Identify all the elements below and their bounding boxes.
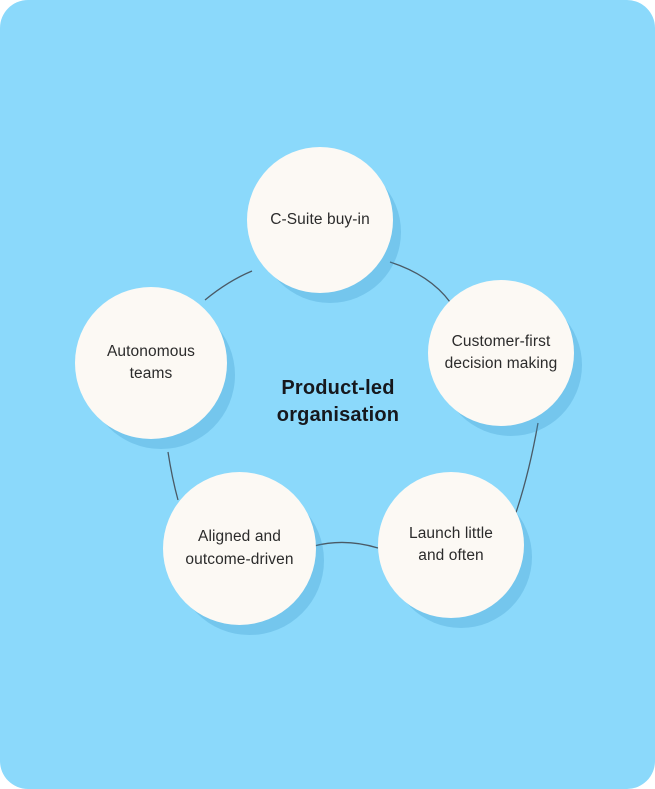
connector-launch-to-aligned: [314, 542, 378, 548]
node-csuite-buy-in[interactable]: C-Suite buy-in: [247, 147, 393, 293]
diagram-canvas: C-Suite buy-in Customer-first decision m…: [0, 0, 655, 789]
node-customer-first[interactable]: Customer-first decision making: [428, 280, 574, 426]
node-teams-line1: Autonomous: [107, 343, 195, 360]
diagram-center-title: Product-led organisation: [238, 375, 438, 429]
node-launch-little-and-often[interactable]: Launch little and often: [378, 472, 524, 618]
node-teams-line2: teams: [130, 365, 173, 382]
node-autonomous-teams[interactable]: Autonomous teams: [75, 287, 227, 439]
node-csuite-label: C-Suite buy-in: [256, 209, 384, 231]
node-launch-line2: and often: [418, 547, 484, 564]
node-aligned-label: Aligned and outcome-driven: [171, 526, 307, 571]
node-aligned-line2: outcome-driven: [185, 551, 293, 568]
node-customer-label: Customer-first decision making: [431, 331, 572, 376]
node-launch-line1: Launch little: [409, 525, 493, 542]
node-aligned-line1: Aligned and: [198, 528, 281, 545]
node-customer-line1: Customer-first: [452, 333, 551, 350]
connector-aligned-to-teams: [168, 452, 178, 500]
connector-customer-to-launch: [512, 423, 538, 524]
node-customer-line2: decision making: [445, 355, 558, 372]
node-teams-label: Autonomous teams: [93, 341, 209, 386]
connector-teams-to-csuite: [205, 271, 252, 300]
center-title-line2: organisation: [238, 402, 438, 429]
connector-csuite-to-customer: [390, 262, 450, 302]
node-aligned-outcome-driven[interactable]: Aligned and outcome-driven: [163, 472, 316, 625]
node-launch-label: Launch little and often: [395, 523, 507, 568]
center-title-line1: Product-led: [238, 375, 438, 402]
